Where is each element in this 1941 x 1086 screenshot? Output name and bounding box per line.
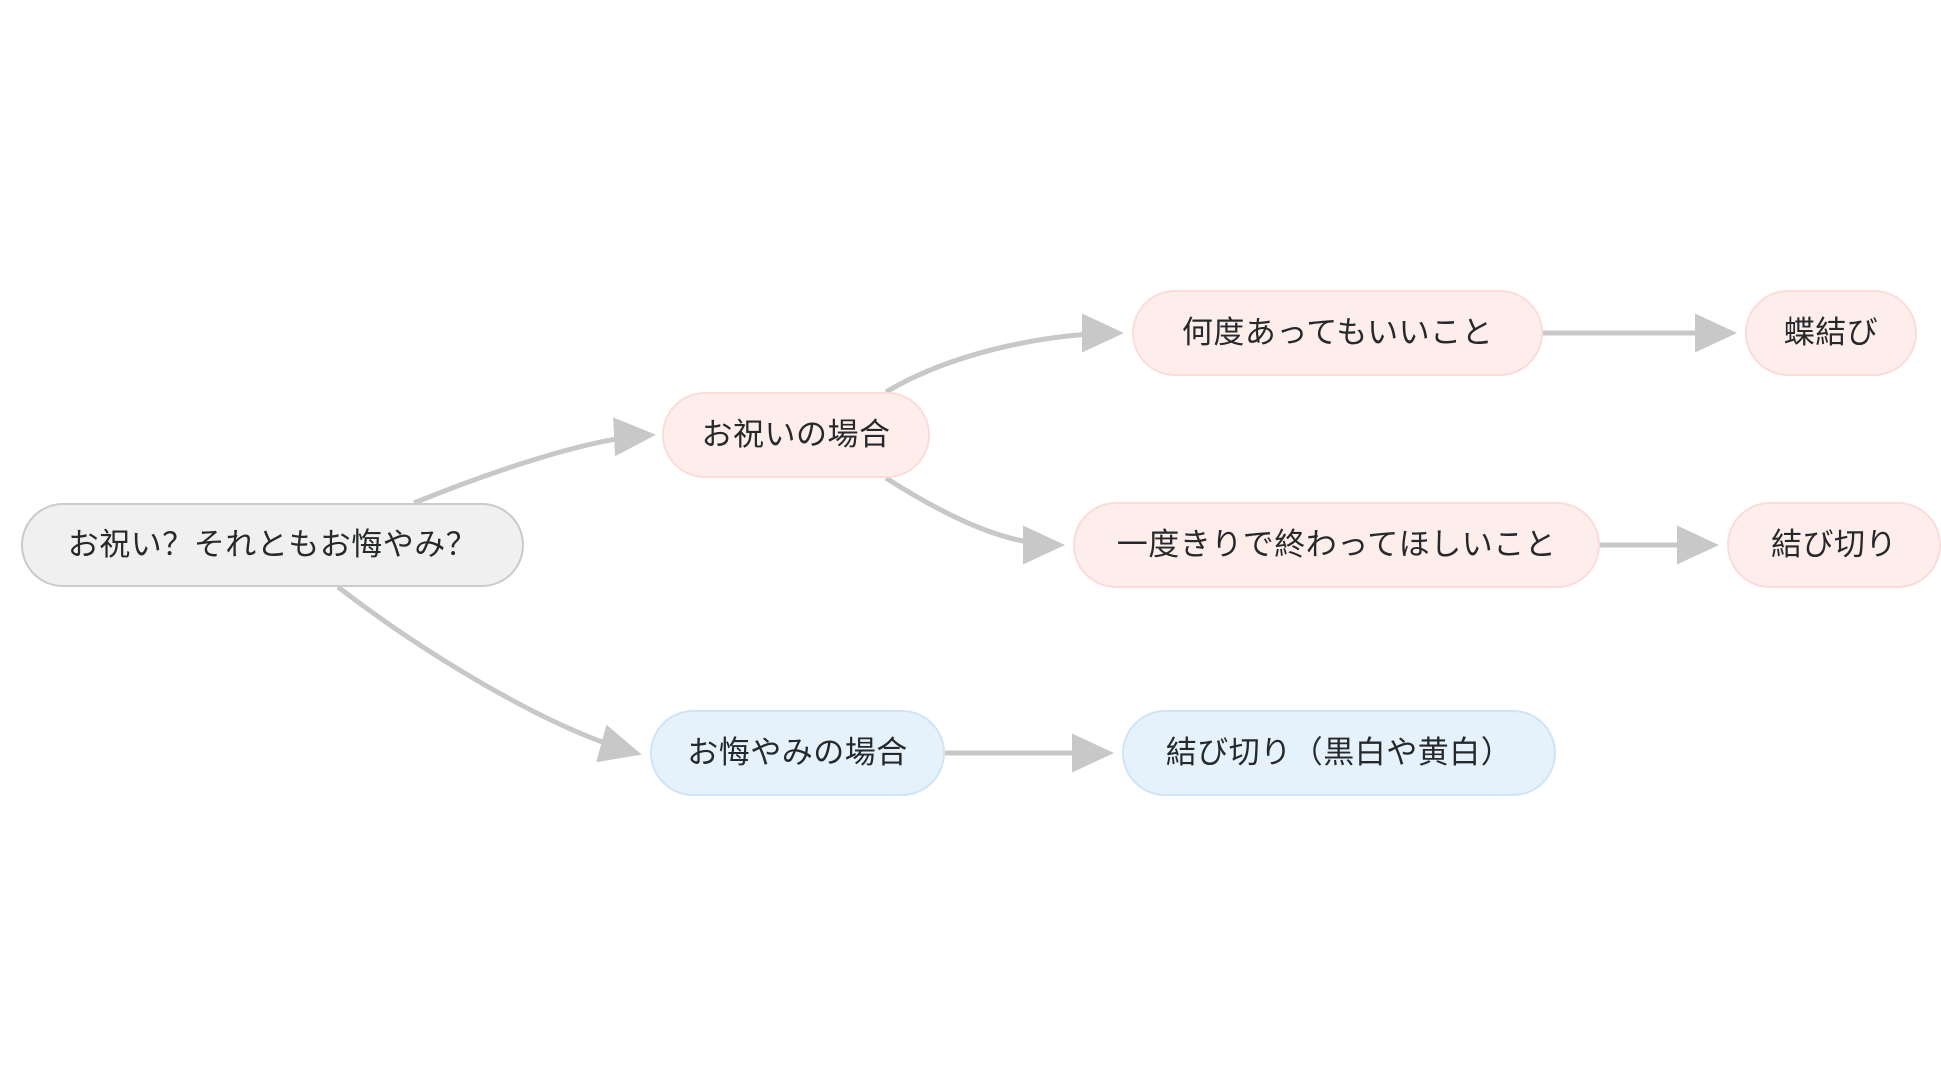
node-label: 何度あってもいいこと: [1182, 317, 1493, 348]
edge-celebration-case-to-repeatable: [886, 333, 1118, 392]
edge-root-to-celebration-case: [414, 435, 650, 503]
node-label: 一度きりで終わってほしいこと: [1117, 529, 1556, 560]
node-chou-musubi[interactable]: 蝶結び: [1745, 290, 1917, 376]
node-repeatable[interactable]: 何度あってもいいこと: [1132, 290, 1543, 376]
node-root[interactable]: お祝い？それともお悔やみ？: [21, 503, 524, 587]
node-label: 蝶結び: [1784, 317, 1879, 348]
node-once-only[interactable]: 一度きりで終わってほしいこと: [1073, 502, 1600, 588]
node-label: 結び切り（黒白や黄白）: [1166, 737, 1513, 768]
node-musubikiri[interactable]: 結び切り: [1727, 502, 1941, 588]
node-celebration-case[interactable]: お祝いの場合: [662, 392, 930, 478]
node-label: お祝い？それともお悔やみ？: [68, 529, 478, 560]
diagram-canvas: お祝い？それともお悔やみ？お祝いの場合何度あってもいいこと蝶結び一度きりで終わっ…: [0, 0, 1941, 1086]
node-label: 結び切り: [1771, 529, 1897, 560]
node-condolence-case[interactable]: お悔やみの場合: [650, 710, 945, 796]
node-label: お悔やみの場合: [687, 737, 908, 768]
node-label: お祝いの場合: [702, 419, 891, 450]
edge-celebration-case-to-once-only: [886, 478, 1059, 545]
node-musubikiri-mono[interactable]: 結び切り（黒白や黄白）: [1122, 710, 1556, 796]
edge-root-to-condolence-case: [338, 587, 636, 753]
